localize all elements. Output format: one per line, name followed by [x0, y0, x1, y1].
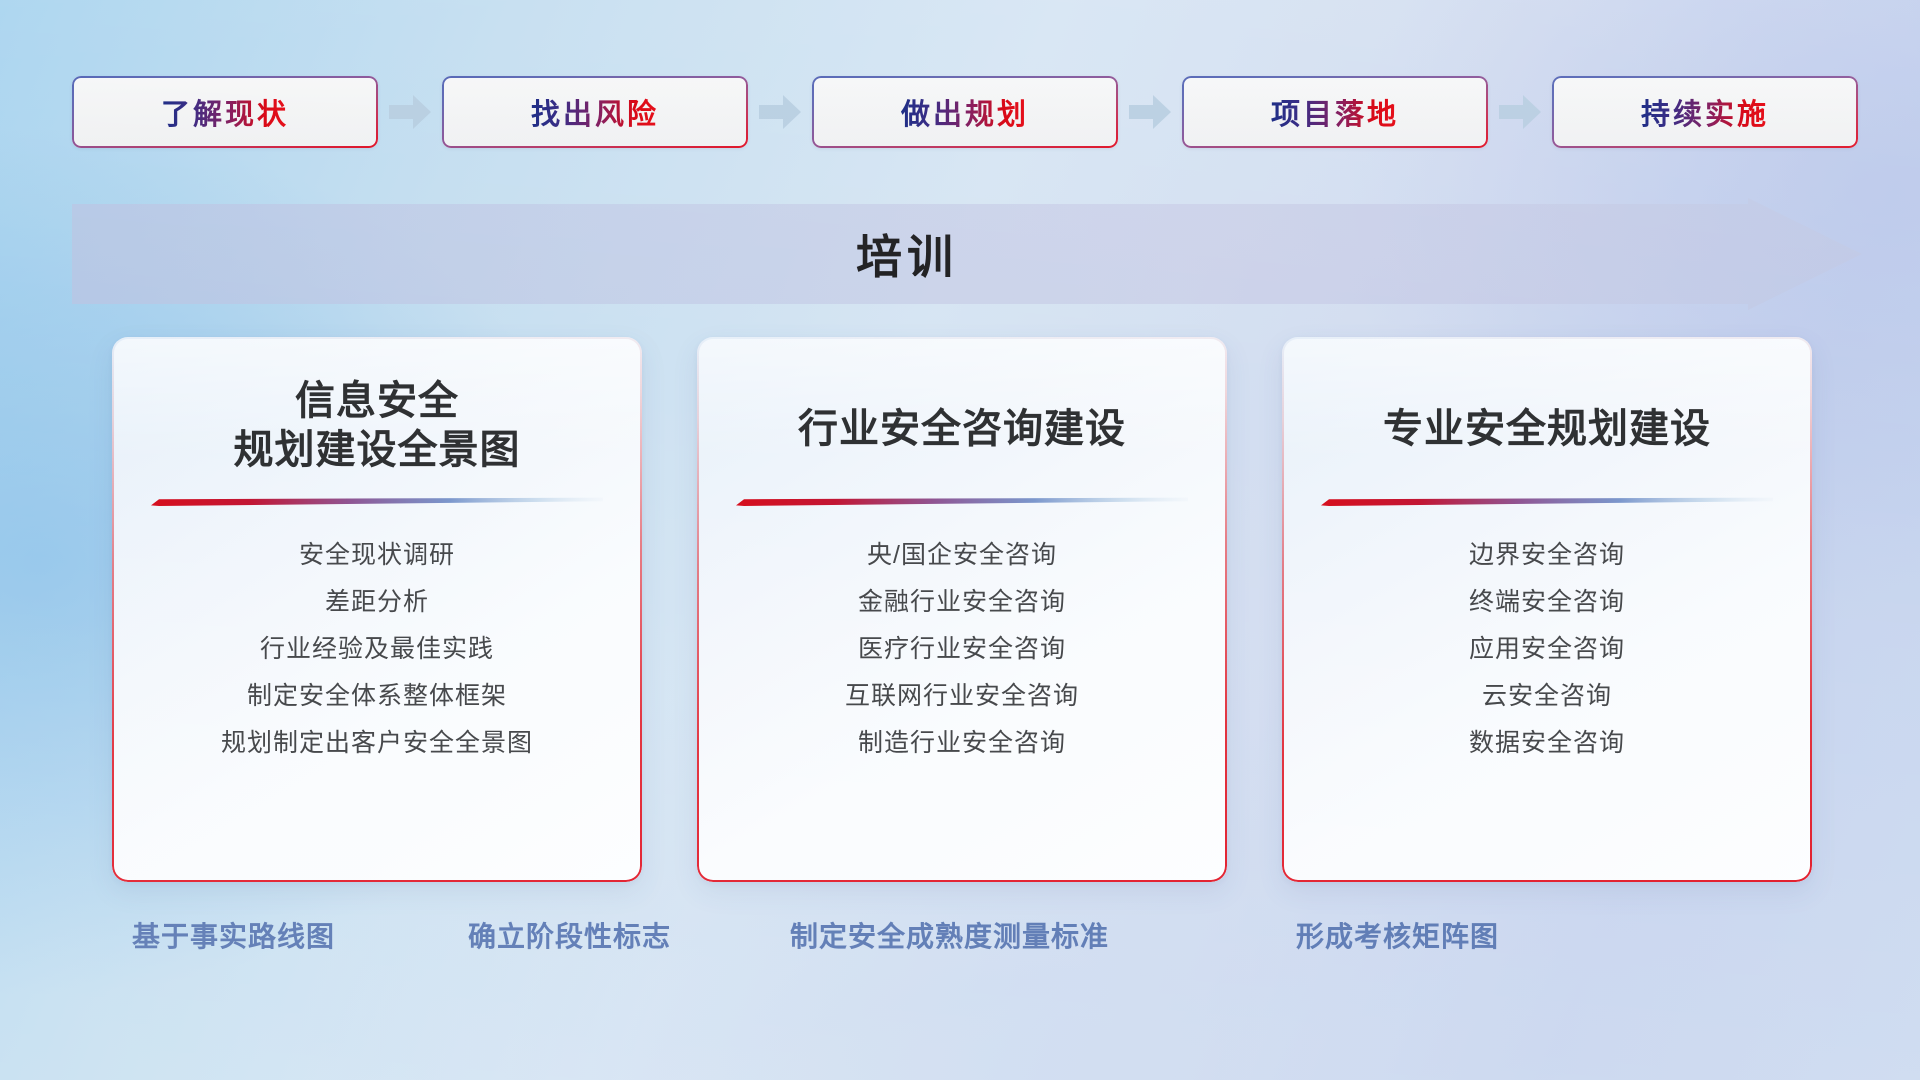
card-1-title: 信息安全 规划建设全景图 — [138, 377, 616, 481]
caption-1: 基于事实路线图 — [132, 915, 335, 955]
right-arrow-icon-2 — [757, 92, 803, 132]
list-item: 制定安全体系整体框架 — [138, 673, 616, 720]
step-label-5: 持续实施 — [1641, 91, 1769, 133]
gradient-divider-icon-1 — [151, 497, 603, 506]
card-3-list: 边界安全咨询 终端安全咨询 应用安全咨询 云安全咨询 数据安全咨询 — [1308, 532, 1786, 767]
step-wrap-1: 了解现状 — [72, 76, 442, 148]
list-item: 金融行业安全咨询 — [723, 579, 1201, 626]
slide-canvas: 了解现状 找出风险 做出规划 项目落地 — [0, 0, 1920, 1080]
list-item: 医疗行业安全咨询 — [723, 626, 1201, 673]
right-arrow-icon-3 — [1127, 92, 1173, 132]
card-1-list: 安全现状调研 差距分析 行业经验及最佳实践 制定安全体系整体框架 规划制定出客户… — [138, 532, 616, 767]
caption-4: 形成考核矩阵图 — [1296, 915, 1499, 955]
step-wrap-4: 项目落地 — [1182, 76, 1552, 148]
list-item: 规划制定出客户安全全景图 — [138, 720, 616, 767]
list-item: 互联网行业安全咨询 — [723, 673, 1201, 720]
gradient-divider-icon-2 — [736, 497, 1188, 506]
card-3-inner: 专业安全规划建设 边界安全咨 — [1282, 337, 1812, 882]
step-wrap-3: 做出规划 — [812, 76, 1182, 148]
card-2-title: 行业安全咨询建设 — [723, 377, 1201, 481]
gradient-divider-icon-3 — [1321, 497, 1773, 506]
step-box-1[interactable]: 了解现状 — [72, 76, 378, 148]
caption-row: 基于事实路线图 确立阶段性标志 制定安全成熟度测量标准 形成考核矩阵图 — [0, 915, 1920, 969]
step-wrap-2: 找出风险 — [442, 76, 812, 148]
list-item: 安全现状调研 — [138, 532, 616, 579]
banner-label: 培训 — [72, 198, 1742, 310]
card-1-inner: 信息安全 规划建设全景图 安 — [112, 337, 642, 882]
list-item: 边界安全咨询 — [1308, 532, 1786, 579]
card-2-inner: 行业安全咨询建设 央/国企安 — [697, 337, 1227, 882]
step-wrap-5: 持续实施 — [1552, 76, 1858, 148]
card-3[interactable]: 专业安全规划建设 边界安全咨 — [1282, 337, 1812, 882]
list-item: 行业经验及最佳实践 — [138, 626, 616, 673]
card-1[interactable]: 信息安全 规划建设全景图 安 — [112, 337, 642, 882]
list-item: 制造行业安全咨询 — [723, 720, 1201, 767]
step-box-3[interactable]: 做出规划 — [812, 76, 1118, 148]
step-box-5[interactable]: 持续实施 — [1552, 76, 1858, 148]
step-label-4: 项目落地 — [1271, 91, 1399, 133]
training-banner: 培训 — [72, 198, 1862, 310]
step-box-4[interactable]: 项目落地 — [1182, 76, 1488, 148]
caption-3: 制定安全成熟度测量标准 — [790, 915, 1109, 955]
process-step-row: 了解现状 找出风险 做出规划 项目落地 — [72, 76, 1862, 148]
step-box-2[interactable]: 找出风险 — [442, 76, 748, 148]
step-label-3: 做出规划 — [901, 91, 1029, 133]
right-arrow-icon-1 — [387, 92, 433, 132]
step-label-2: 找出风险 — [531, 91, 659, 133]
card-2[interactable]: 行业安全咨询建设 央/国企安 — [697, 337, 1227, 882]
list-item: 云安全咨询 — [1308, 673, 1786, 720]
right-arrow-icon-4 — [1497, 92, 1543, 132]
list-item: 数据安全咨询 — [1308, 720, 1786, 767]
card-2-list: 央/国企安全咨询 金融行业安全咨询 医疗行业安全咨询 互联网行业安全咨询 制造行… — [723, 532, 1201, 767]
step-label-1: 了解现状 — [161, 91, 289, 133]
card-3-title: 专业安全规划建设 — [1308, 377, 1786, 481]
list-item: 央/国企安全咨询 — [723, 532, 1201, 579]
list-item: 差距分析 — [138, 579, 616, 626]
list-item: 终端安全咨询 — [1308, 579, 1786, 626]
card-row: 信息安全 规划建设全景图 安 — [112, 337, 1812, 882]
list-item: 应用安全咨询 — [1308, 626, 1786, 673]
caption-2: 确立阶段性标志 — [468, 915, 671, 955]
